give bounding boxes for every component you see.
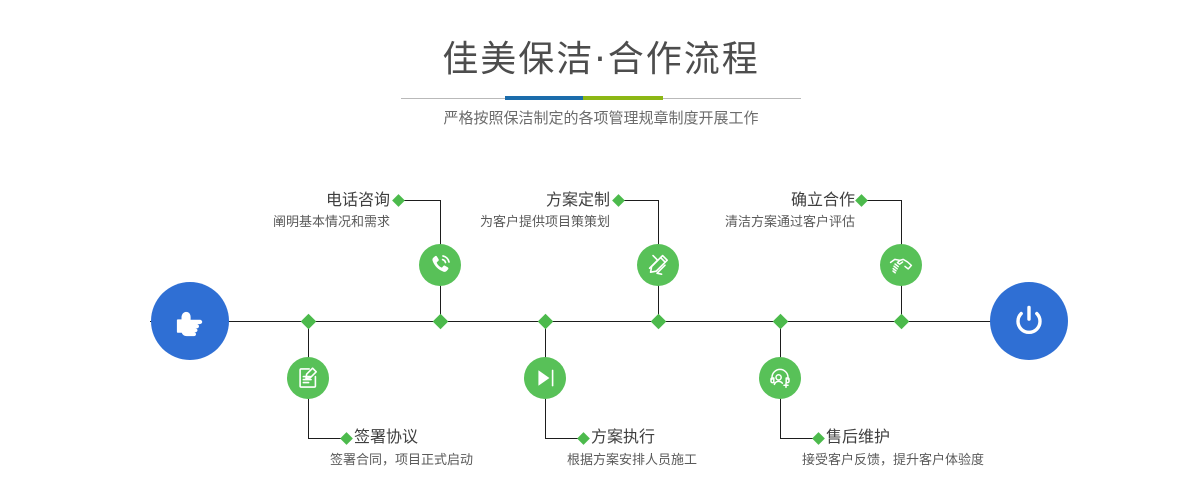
branch-marker-diamond (340, 432, 353, 445)
step-icon-circle[interactable] (759, 357, 801, 399)
step-description: 为客户提供项目策策划 (355, 214, 610, 232)
step-label: 确立合作 (635, 190, 855, 210)
divider-segment-blue (505, 96, 583, 100)
step-icon-circle[interactable] (287, 357, 329, 399)
step-icon-circle[interactable] (880, 244, 922, 286)
axis-marker-diamond (894, 314, 910, 330)
flow-end-node (990, 282, 1068, 360)
step-description: 阐明基本情况和需求 (140, 214, 390, 232)
branch-marker-diamond (577, 432, 590, 445)
title-divider (401, 96, 801, 100)
play-skip-icon (532, 365, 558, 391)
pencil-edit-icon (645, 252, 671, 278)
step-icon-circle[interactable] (524, 357, 566, 399)
pointing-hand-icon (168, 299, 212, 343)
branch-marker-diamond (855, 194, 868, 207)
page-subtitle: 严格按照保洁制定的各项管理规章制度开展工作 (0, 107, 1202, 129)
axis-marker-diamond (773, 314, 789, 330)
axis-marker-diamond (301, 314, 317, 330)
step-description: 根据方案安排人员施工 (567, 452, 697, 470)
phone-call-icon (427, 252, 453, 278)
axis-marker-diamond (651, 314, 667, 330)
step-description: 接受客户反馈，提升客户体验度 (802, 452, 984, 470)
page-title: 佳美保洁·合作流程 (0, 38, 1202, 82)
flow-start-node (151, 282, 229, 360)
step-label: 签署协议 (354, 427, 418, 447)
step-label: 方案执行 (591, 427, 655, 447)
cooperation-flow-infographic: 佳美保洁·合作流程 严格按照保洁制定的各项管理规章制度开展工作 (0, 0, 1202, 502)
timeline-axis (150, 321, 1052, 322)
document-edit-icon (295, 365, 321, 391)
power-icon (1007, 299, 1051, 343)
branch-horizontal-line (863, 200, 902, 201)
step-description: 清洁方案通过客户评估 (600, 214, 855, 232)
step-label: 电话咨询 (170, 190, 390, 210)
axis-marker-diamond (433, 314, 449, 330)
step-description: 签署合同，项目正式启动 (330, 452, 473, 470)
step-icon-circle[interactable] (637, 244, 679, 286)
step-icon-circle[interactable] (419, 244, 461, 286)
branch-marker-diamond (812, 432, 825, 445)
step-label: 方案定制 (390, 190, 610, 210)
divider-segment-green (583, 96, 663, 100)
branch-marker-diamond (612, 194, 625, 207)
headset-support-icon (767, 365, 793, 391)
step-label: 售后维护 (826, 427, 890, 447)
axis-marker-diamond (538, 314, 554, 330)
handshake-icon (888, 252, 914, 278)
